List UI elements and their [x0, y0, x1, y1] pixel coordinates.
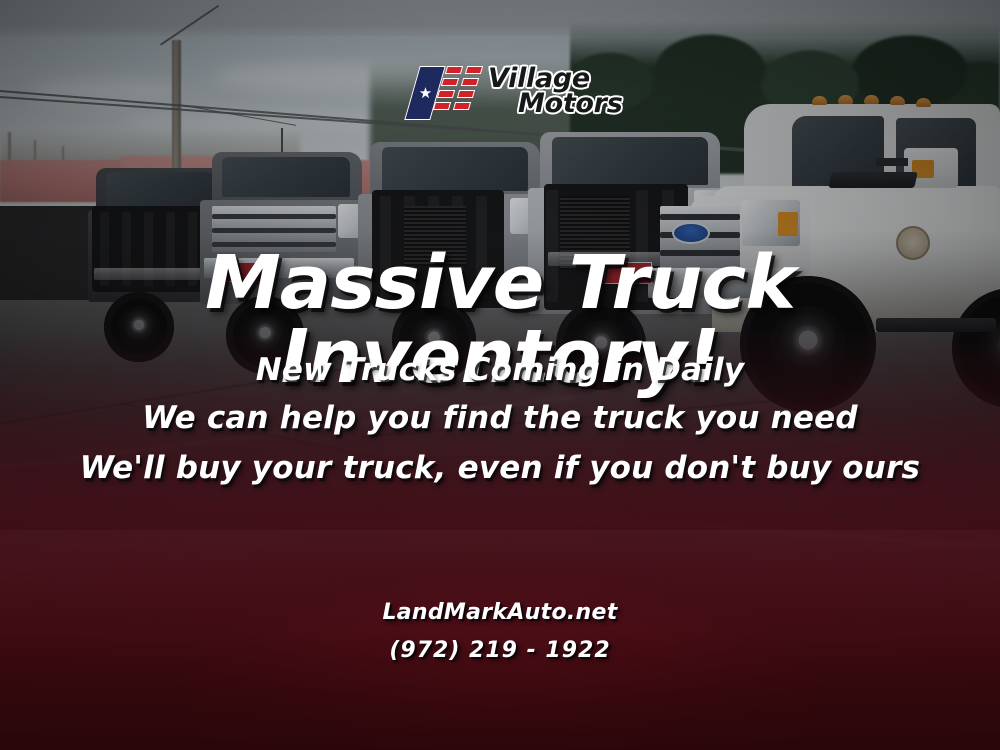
phone-number[interactable]: (972) 219 - 1922	[0, 638, 1000, 663]
subheading-2: We can help you find the truck you need	[0, 400, 1000, 436]
subheading-3: We'll buy your truck, even if you don't …	[0, 450, 1000, 486]
truck-inventory-ad-banner: ★ Village Motors Massive Truck Inventory…	[0, 0, 1000, 750]
subheading-1: New Trucks Coming in Daily	[0, 352, 1000, 388]
ad-copy: Massive Truck Inventory! New Trucks Comi…	[0, 0, 1000, 750]
website-url[interactable]: LandMarkAuto.net	[0, 600, 1000, 625]
